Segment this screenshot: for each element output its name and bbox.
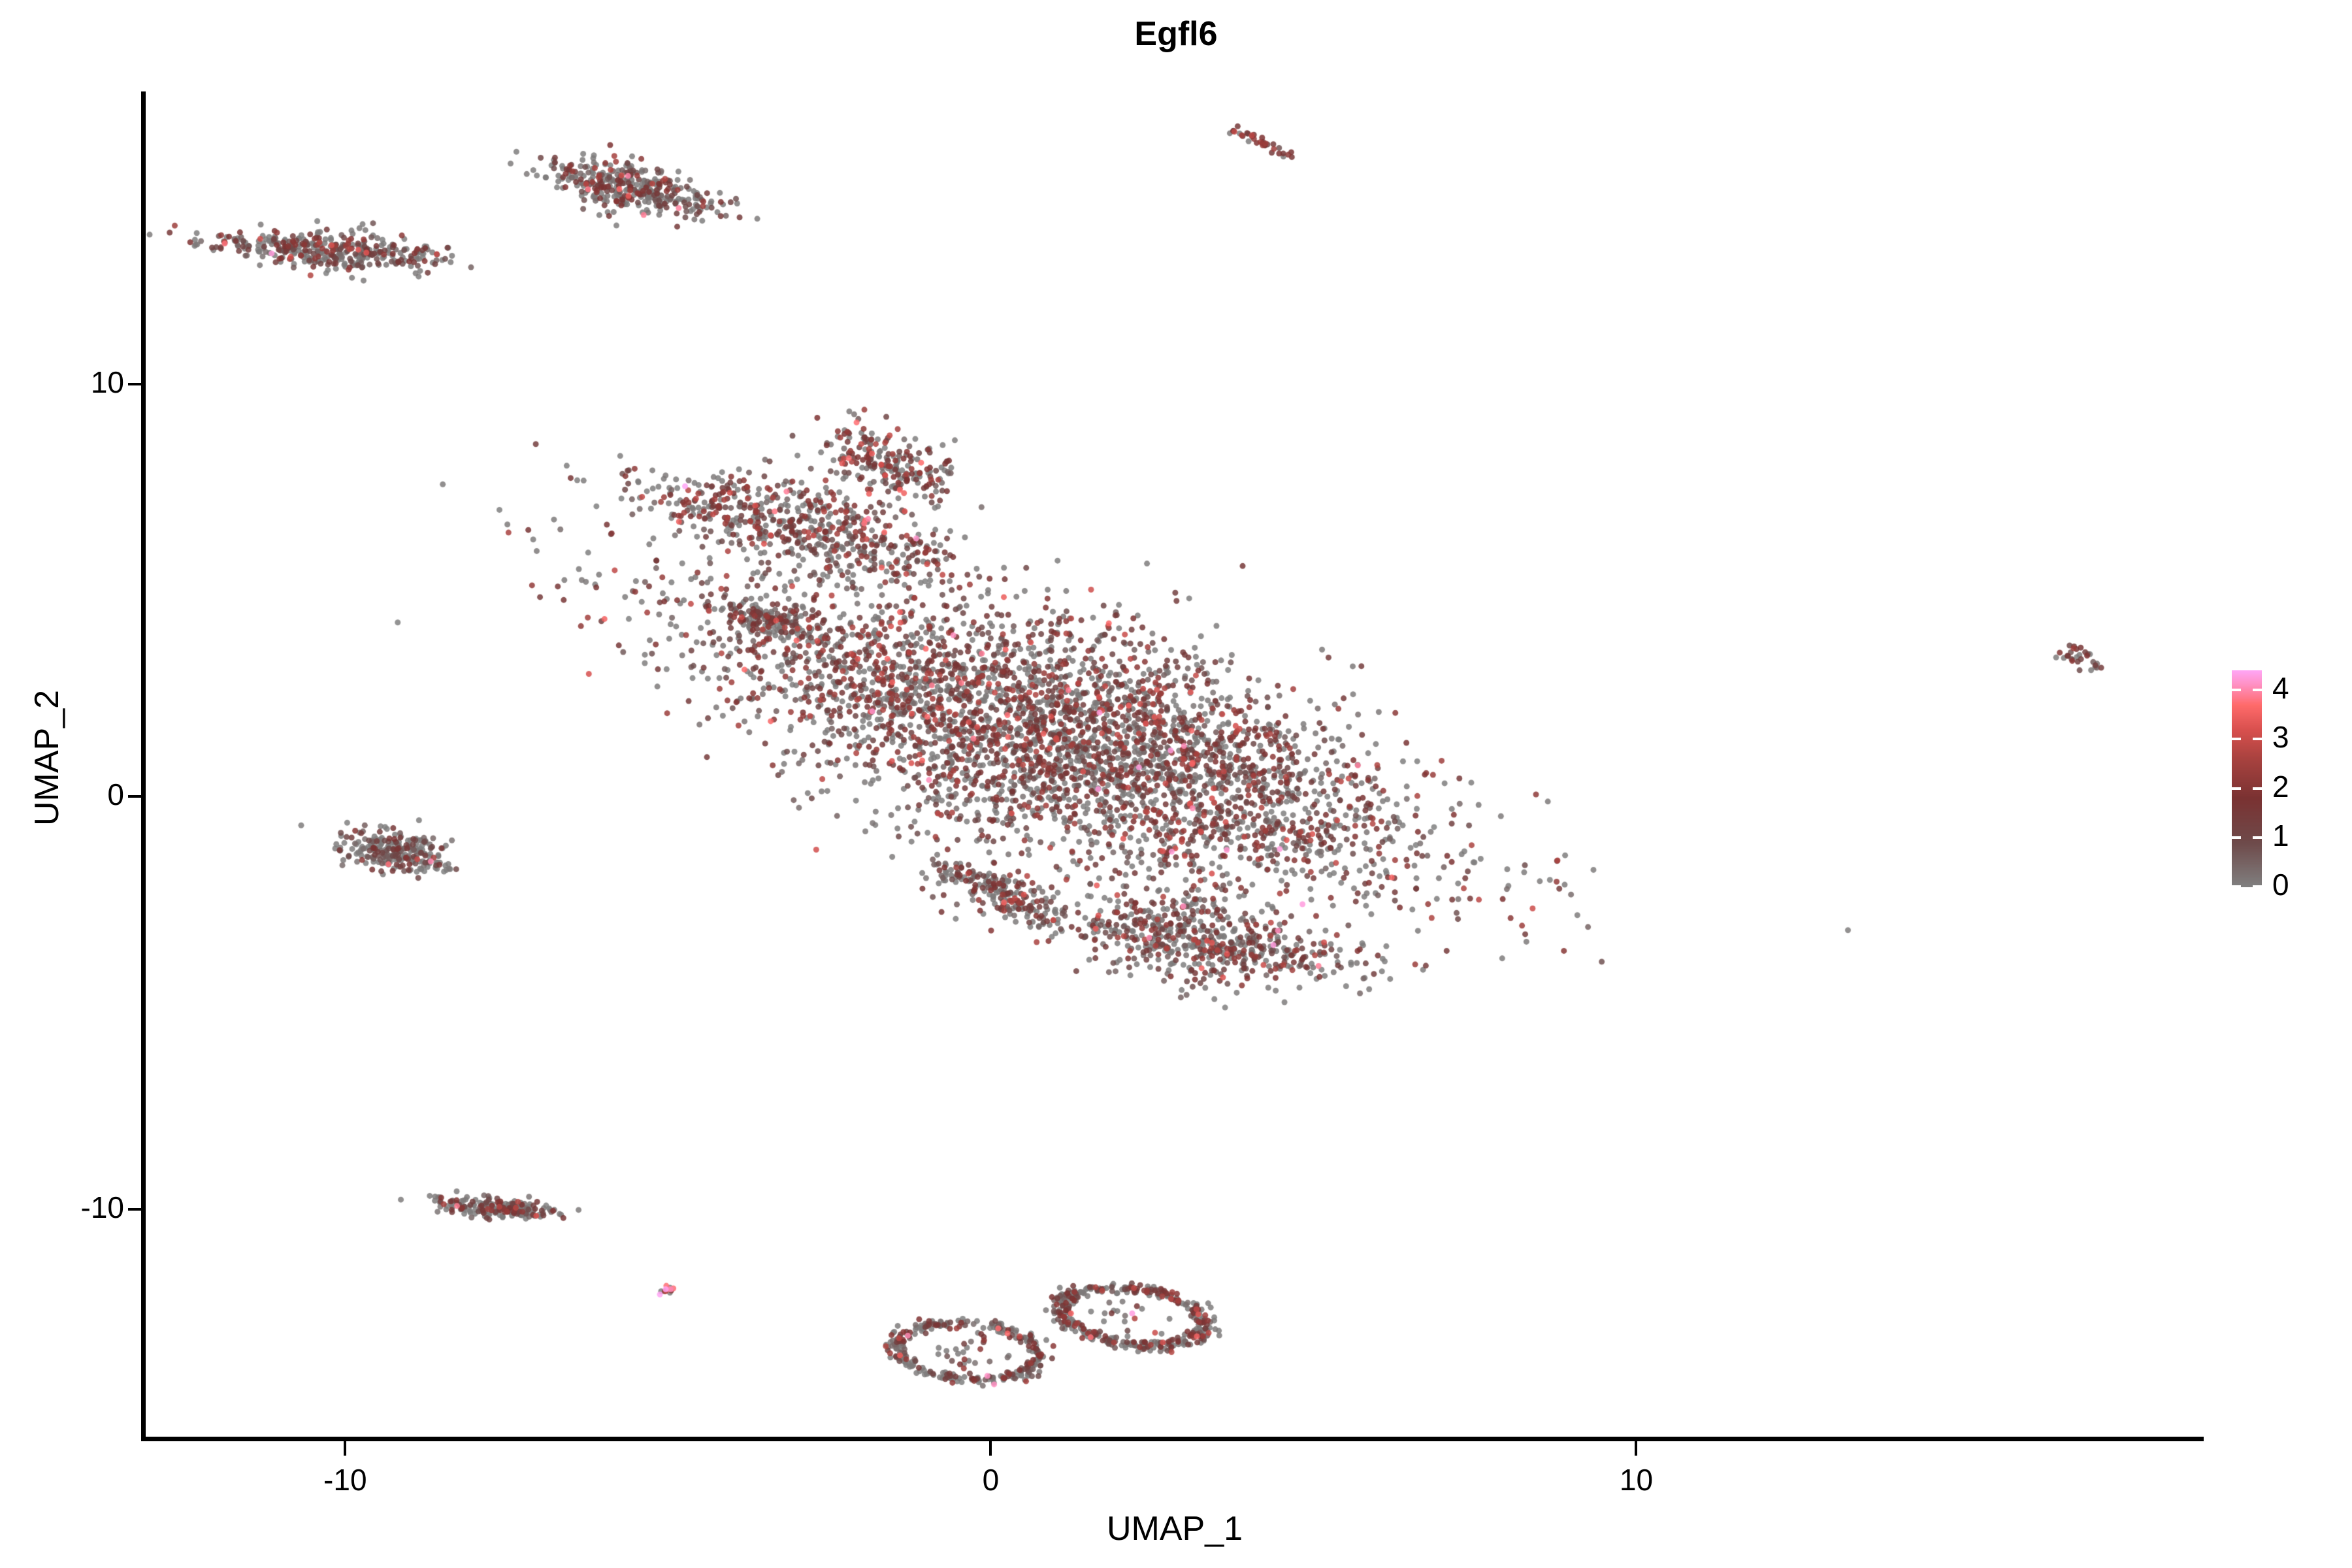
colorbar-label: 2: [2272, 772, 2289, 802]
x-axis-tick-label: 10: [1620, 1462, 1653, 1497]
x-axis-tick-label: 0: [983, 1462, 1000, 1497]
y-axis-tick: [128, 1208, 141, 1211]
colorbar-tick: [2232, 738, 2241, 740]
plot-panel: [145, 91, 2204, 1440]
colorbar-tick: [2232, 836, 2241, 839]
y-axis-tick: [128, 795, 141, 798]
colorbar-gradient: [2232, 670, 2262, 887]
scatter-plot-canvas: [145, 91, 2204, 1440]
y-axis-line: [141, 91, 146, 1441]
y-axis-tick: [128, 383, 141, 385]
x-axis-tick: [344, 1441, 346, 1456]
x-axis-tick: [989, 1441, 992, 1456]
y-axis-tick-label: -10: [81, 1190, 124, 1225]
y-axis-tick-label: 10: [91, 365, 124, 400]
legend-colorbar: 4 3 2 1 0: [2232, 670, 2336, 889]
colorbar-tick: [2253, 787, 2262, 790]
colorbar-label: 0: [2272, 870, 2289, 900]
colorbar-tick: [2253, 738, 2262, 740]
x-axis-tick: [1635, 1441, 1637, 1456]
x-axis-line: [141, 1437, 2204, 1441]
colorbar-tick: [2232, 885, 2241, 888]
colorbar-tick: [2232, 689, 2241, 691]
x-axis-title: UMAP_1: [145, 1509, 2204, 1548]
colorbar-label: 1: [2272, 821, 2289, 851]
y-axis-tick-label: 0: [107, 777, 124, 812]
colorbar-label: 4: [2272, 673, 2289, 703]
umap-feature-plot: Egfl6 10 0 -10 -10 0 10 UMAP_1 UMAP_2 4 …: [0, 0, 2352, 1568]
colorbar-tick: [2232, 787, 2241, 790]
y-axis-title: UMAP_2: [27, 84, 67, 1432]
page-title: Egfl6: [0, 14, 2352, 54]
colorbar-tick: [2253, 836, 2262, 839]
x-axis-tick-label: -10: [323, 1462, 367, 1497]
colorbar-tick: [2253, 885, 2262, 888]
colorbar-label: 3: [2272, 722, 2289, 752]
colorbar-tick: [2253, 689, 2262, 691]
